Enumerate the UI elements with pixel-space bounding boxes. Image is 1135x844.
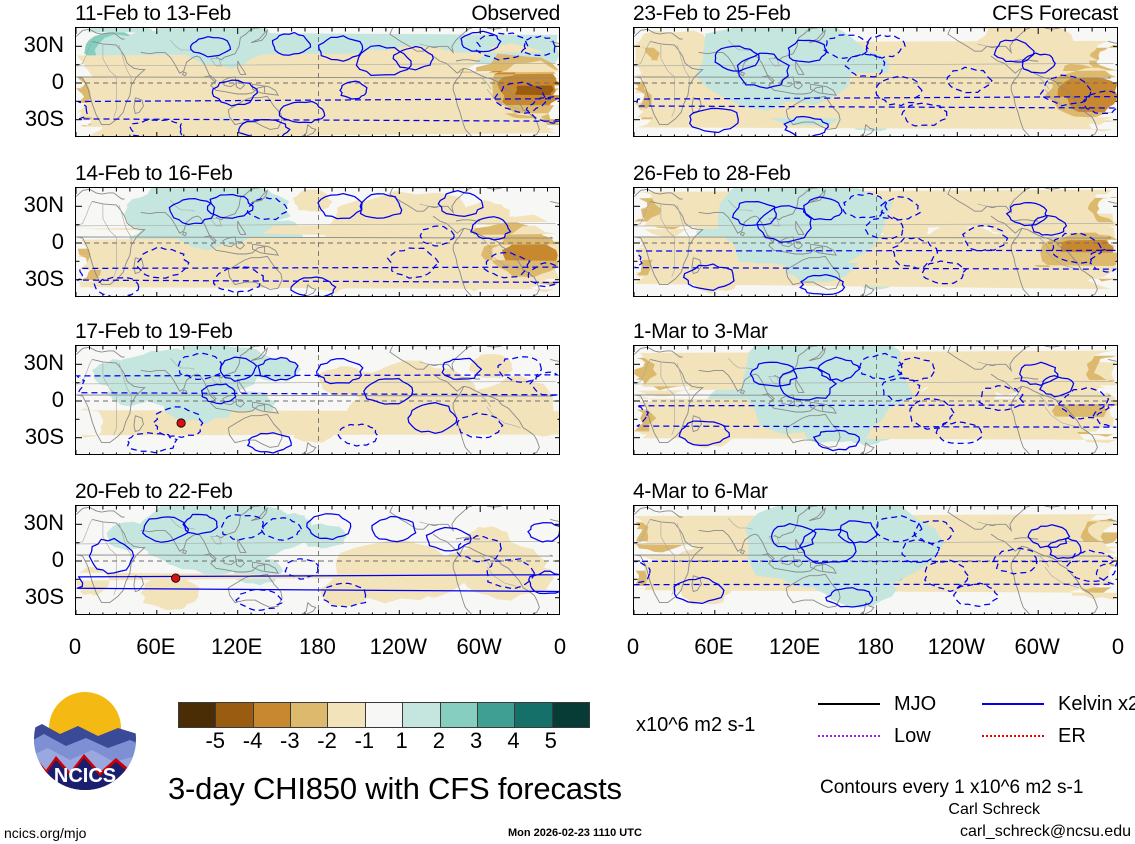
x-tick-120W: 120W: [928, 636, 985, 658]
colorbar-tick-1: 1: [396, 730, 408, 752]
y-axis-label-obs-4-2: 30S: [0, 586, 64, 608]
legend-swatch-mjo: [818, 703, 880, 705]
y-axis-label-obs-2-0: 30N: [0, 194, 64, 216]
colorbar-cell-10: [553, 703, 589, 727]
colorbar: [178, 702, 590, 728]
colorbar-cell-2: [254, 703, 291, 727]
shaded-anomaly-field: [634, 28, 1118, 131]
x-tick-120E: 120E: [211, 636, 262, 658]
x-tick-60W: 60W: [1015, 636, 1060, 658]
legend-swatch-low: [818, 735, 880, 737]
map-fcst-1: [633, 27, 1118, 137]
generation-timestamp: Mon 2026-02-23 1110 UTC: [508, 828, 642, 839]
panel-title-fcst-3: 1-Mar to 3-Mar: [633, 321, 768, 342]
x-tick-60E: 60E: [694, 636, 733, 658]
contour-interval-note: Contours every 1 x10^6 m2 s-1: [820, 778, 1083, 797]
colorbar-cell-4: [328, 703, 365, 727]
site-url[interactable]: ncics.org/mjo: [4, 826, 86, 840]
panel-title-obs-4: 20-Feb to 22-Feb: [75, 481, 232, 502]
legend-swatch-er: [982, 735, 1044, 737]
colorbar-tick--1: -1: [355, 730, 375, 752]
column-header-observed: Observed: [471, 3, 560, 24]
map-obs-2: [75, 187, 560, 297]
colorbar-tick--3: -3: [280, 730, 300, 752]
colorbar-tick-3: 3: [470, 730, 482, 752]
panel-title-obs-2: 14-Feb to 16-Feb: [75, 163, 232, 184]
x-tick-0: 0: [627, 636, 639, 658]
map-fcst-2: [633, 187, 1118, 297]
colorbar-tick-4: 4: [507, 730, 519, 752]
ncics-logo-text: NCICS: [54, 765, 116, 787]
colorbar-tick--2: -2: [317, 730, 337, 752]
y-axis-label-obs-4-0: 30N: [0, 512, 64, 534]
y-axis-label-obs-1-0: 30N: [0, 34, 64, 56]
colorbar-tick-2: 2: [433, 730, 445, 752]
x-tick-0: 0: [69, 636, 81, 658]
x-tick-60E: 60E: [136, 636, 175, 658]
colorbar-tick--4: -4: [243, 730, 263, 752]
ncics-logo-svg: NCICS: [26, 684, 144, 794]
y-axis-label-obs-3-2: 30S: [0, 426, 64, 448]
x-tick-120E: 120E: [769, 636, 820, 658]
y-axis-label-obs-1-1: 0: [0, 71, 64, 93]
panel-title-fcst-1: 23-Feb to 25-Feb: [633, 3, 790, 24]
panel-title-obs-1: 11-Feb to 13-Feb: [75, 3, 231, 24]
legend-swatch-kelvin-x2: [982, 703, 1044, 705]
map-obs-4: [75, 505, 560, 615]
y-axis-label-obs-3-1: 0: [0, 389, 64, 411]
x-tick-60W: 60W: [457, 636, 502, 658]
y-axis-label-obs-2-2: 30S: [0, 268, 64, 290]
colorbar-tick--5: -5: [205, 730, 225, 752]
colorbar-cell-3: [291, 703, 328, 727]
y-axis-label-obs-2-1: 0: [0, 231, 64, 253]
x-tick-120W: 120W: [370, 636, 427, 658]
column-header-cfs-forecast: CFS Forecast: [992, 3, 1118, 24]
author-email[interactable]: carl_schreck@ncsu.edu: [960, 824, 1131, 840]
map-fcst-3: [633, 345, 1118, 455]
map-obs-3: [75, 345, 560, 455]
y-axis-label-obs-3-0: 30N: [0, 352, 64, 374]
colorbar-tick-5: 5: [545, 730, 557, 752]
er-storm-marker: [172, 574, 180, 582]
colorbar-cell-5: [366, 703, 403, 727]
colorbar-cell-9: [515, 703, 552, 727]
colorbar-units-label: x10^6 m2 s-1: [636, 715, 755, 735]
er-storm-marker: [177, 419, 185, 427]
x-tick-0: 0: [1112, 636, 1124, 658]
colorbar-cell-8: [478, 703, 515, 727]
colorbar-cell-6: [403, 703, 440, 727]
page-title: 3-day CHI850 with CFS forecasts: [168, 773, 622, 804]
legend-label: ER: [1058, 726, 1086, 746]
author-name: Carl Schreck: [948, 802, 1040, 818]
colorbar-cell-7: [441, 703, 478, 727]
colorbar-cell-1: [216, 703, 253, 727]
x-tick-180: 180: [299, 636, 336, 658]
panel-title-obs-3: 17-Feb to 19-Feb: [75, 321, 232, 342]
y-axis-label-obs-4-1: 0: [0, 549, 64, 571]
legend-label: Low: [894, 726, 931, 746]
legend-label: Kelvin x2: [1058, 694, 1135, 714]
x-tick-0: 0: [554, 636, 566, 658]
legend-label: MJO: [894, 694, 936, 714]
map-fcst-4: [633, 505, 1118, 615]
x-tick-180: 180: [857, 636, 894, 658]
ncics-logo: NCICS: [26, 684, 144, 794]
shaded-anomaly-field: [634, 188, 1118, 294]
map-obs-1: [75, 27, 560, 137]
panel-title-fcst-2: 26-Feb to 28-Feb: [633, 163, 790, 184]
colorbar-cell-0: [179, 703, 216, 727]
panel-title-fcst-4: 4-Mar to 6-Mar: [633, 481, 768, 502]
y-axis-label-obs-1-2: 30S: [0, 108, 64, 130]
